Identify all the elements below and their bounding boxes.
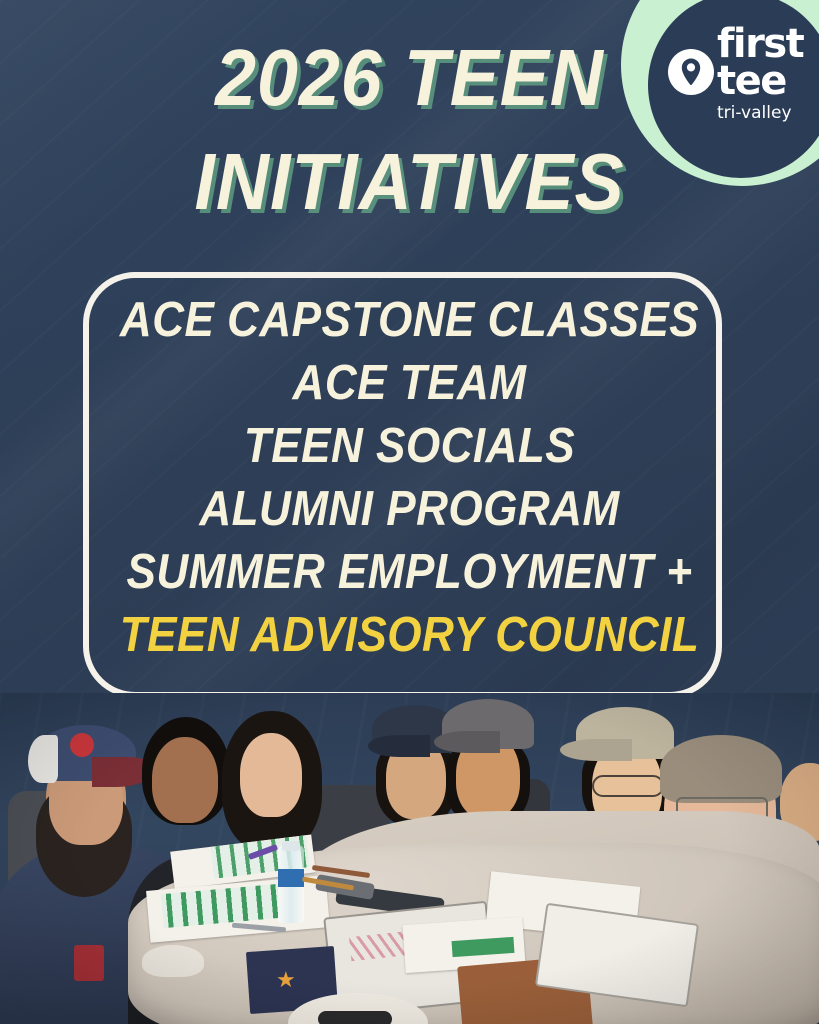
person-8-hair	[660, 735, 782, 803]
water-bottle-cap	[282, 841, 300, 851]
golf-hat-brand	[318, 1011, 392, 1024]
person-6-cap-brim	[560, 739, 632, 761]
person-2-face	[152, 737, 218, 823]
list-item: ALUMNI PROGRAM	[41, 478, 778, 541]
logo-word-tee: tee	[717, 63, 819, 100]
person-3-face	[240, 733, 302, 817]
golf-hat-left	[142, 945, 204, 977]
brand-logo[interactable]: first tee tri-valley	[621, 0, 819, 186]
list-item: TEEN SOCIALS	[41, 415, 778, 478]
person-4-cap-brim	[368, 735, 430, 757]
list-item: ACE CAPSTONE CLASSES	[41, 289, 778, 352]
list-item-highlighted: TEEN ADVISORY COUNCIL	[41, 604, 778, 667]
person-5-cap-brim	[434, 731, 500, 753]
person-6-glasses	[592, 775, 664, 797]
person-1-cap-panel	[28, 735, 58, 783]
star-icon: ★	[276, 969, 296, 991]
water-bottle-label	[278, 869, 304, 887]
person-1-cap-logo	[70, 733, 94, 757]
list-item: SUMMER EMPLOYMENT +	[41, 541, 778, 604]
person-1-jacket-logo	[74, 945, 104, 981]
first-tee-pin-icon	[668, 49, 714, 95]
initiatives-list: ACE CAPSTONE CLASSES ACE TEAM TEEN SOCIA…	[0, 289, 819, 667]
logo-tagline: tri-valley	[717, 102, 819, 124]
logo-wordmark: first tee tri-valley	[717, 26, 819, 124]
poster-canvas: 2026 TEEN INITIATIVES first tee tri-vall…	[0, 0, 819, 1024]
list-item: ACE TEAM	[41, 352, 778, 415]
group-photo: ★	[0, 693, 819, 1024]
